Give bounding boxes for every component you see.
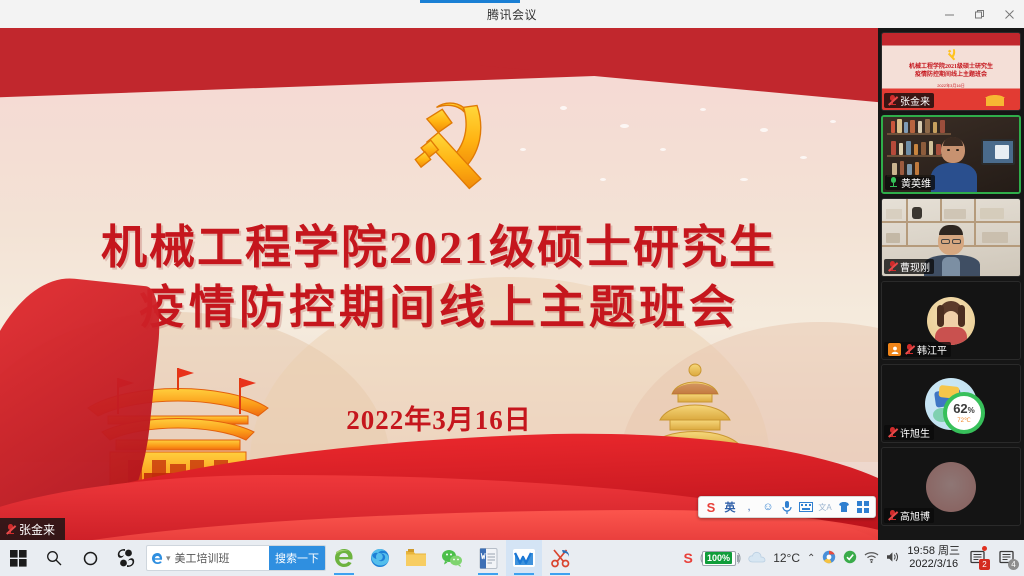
emoji-icon[interactable]: ☺	[761, 500, 775, 514]
apps-icon[interactable]	[856, 500, 870, 514]
participant-name: 曹现刚	[900, 259, 930, 274]
cloud-fleck	[740, 178, 748, 181]
meeting-stage: 机械工程学院2021级硕士研究生 疫情防控期间线上主题班会 2022年3月16日	[0, 28, 1024, 540]
clock-time: 19:58 周三	[907, 545, 960, 558]
microsoft-edge-icon[interactable]	[362, 540, 398, 576]
close-button[interactable]	[994, 0, 1024, 28]
cloud-fleck	[800, 156, 807, 159]
wechat-icon[interactable]	[434, 540, 470, 576]
gauge-temperature-value: 72℃	[957, 417, 970, 424]
battery-percent-label: 100%	[705, 552, 732, 564]
file-explorer-icon[interactable]	[398, 540, 434, 576]
search-submit-button[interactable]: 搜索一下	[269, 545, 325, 571]
cloud-fleck	[620, 124, 629, 128]
cloud-fleck	[600, 178, 606, 181]
participant-tile-gaoxubo[interactable]: 高旭博	[881, 447, 1021, 526]
sogou-ime-tray-icon[interactable]: S	[684, 550, 693, 566]
host-badge-icon	[888, 343, 901, 356]
participant-name-badge: 张金来	[884, 93, 934, 108]
action-center-count: 4	[1008, 559, 1019, 570]
shared-screen-slide[interactable]: 机械工程学院2021级硕士研究生 疫情防控期间线上主题班会 2022年3月16日	[0, 28, 878, 540]
gauge-percent-value: 62%	[953, 402, 975, 417]
mic-muted-icon	[888, 510, 897, 521]
mic-muted-icon	[6, 524, 15, 535]
notification-center-icon[interactable]: 2	[967, 547, 989, 569]
participant-name: 许旭生	[900, 425, 930, 440]
window-controls	[934, 0, 1024, 28]
tile-slide-title: 机械工程学院2021级硕士研究生 疫情防控期间线上主题班会	[886, 63, 1016, 79]
taskbar-clock[interactable]: 19:58 周三 2022/3/16	[907, 545, 960, 571]
internet-explorer-icon[interactable]	[326, 540, 362, 576]
notification-count: 2	[979, 559, 990, 570]
english-mode-icon[interactable]: 英	[723, 500, 737, 514]
battery-indicator[interactable]: ( 100% )	[700, 551, 741, 566]
show-hidden-icons-icon[interactable]: ⌃	[807, 553, 815, 564]
sogou-browser-icon[interactable]	[108, 540, 144, 576]
participant-tile-xuxusheng[interactable]: 62% 72℃ 许旭生	[881, 364, 1021, 443]
skin-icon[interactable]	[837, 500, 851, 514]
titlebar-accent-line	[420, 0, 520, 3]
window-title: 腾讯会议	[0, 6, 1024, 23]
self-name-badge: 张金来	[0, 518, 65, 540]
wps-writer-icon[interactable]	[470, 540, 506, 576]
participant-name-badge: 黄英维	[885, 175, 935, 190]
mic-muted-icon	[888, 427, 897, 438]
sogou-logo-icon[interactable]: S	[704, 500, 718, 514]
mic-muted-icon	[888, 95, 897, 106]
participant-name: 黄英维	[901, 175, 931, 190]
minimize-button[interactable]	[934, 0, 964, 28]
search-input-value[interactable]: 美工培训班	[171, 550, 269, 566]
mic-muted-icon	[905, 344, 914, 355]
mic-on-icon	[889, 177, 898, 188]
cloud-fleck	[660, 148, 666, 151]
search-input[interactable]: ▾ 美工培训班 搜索一下	[146, 545, 326, 571]
punctuation-icon[interactable]: ,	[742, 500, 756, 514]
wifi-icon[interactable]	[864, 551, 879, 566]
slide-title-line-1: 机械工程学院2021级硕士研究生	[0, 218, 878, 278]
participant-tile-caoxiangang[interactable]: 曹现刚	[881, 198, 1021, 277]
participant-name-badge: 韩江平	[884, 342, 951, 357]
participant-tile-hanjiangping[interactable]: 韩江平	[881, 281, 1021, 360]
browser-tray-icon[interactable]	[822, 550, 836, 567]
tencent-meeting-icon[interactable]	[506, 540, 542, 576]
search-icon[interactable]	[36, 540, 72, 576]
participant-filmstrip[interactable]: 机械工程学院2021级硕士研究生 疫情防控期间线上主题班会 2022年3月16日…	[878, 28, 1024, 540]
participant-name-badge: 许旭生	[884, 425, 934, 440]
participant-name-badge: 高旭博	[884, 508, 934, 523]
ie-edge-icon	[147, 552, 166, 565]
speaker-icon[interactable]	[886, 551, 900, 566]
avatar	[926, 462, 976, 512]
cpc-emblem-icon	[392, 90, 508, 200]
system-tray[interactable]: S ( 100% ) 12°C ⌃ 19:58 周三 2022/3/16	[684, 545, 1024, 571]
cortana-circle-icon[interactable]	[72, 540, 108, 576]
participant-name: 韩江平	[917, 342, 947, 357]
battery-percent-gauge: 62% 72℃	[943, 392, 985, 434]
cloud-fleck	[700, 108, 706, 111]
avatar: 62% 72℃	[925, 378, 977, 430]
window-title-bar[interactable]: 腾讯会议	[0, 0, 1024, 28]
cloud-fleck	[520, 148, 526, 151]
clock-date: 2022/3/16	[907, 558, 960, 571]
weather-temperature-label[interactable]: 12°C	[773, 551, 800, 565]
participant-name: 张金来	[900, 93, 930, 108]
security-tray-icon[interactable]	[843, 550, 857, 567]
translate-icon[interactable]: 文A	[818, 500, 832, 514]
restore-button[interactable]	[964, 0, 994, 28]
avatar	[927, 297, 975, 345]
slide-red-band-right	[480, 28, 878, 106]
tile-slide-date: 2022年3月16日	[882, 83, 1020, 89]
cpc-emblem-icon	[943, 47, 959, 62]
participant-name: 高旭博	[900, 508, 930, 523]
windows-start-icon[interactable]	[0, 540, 36, 576]
soft-keyboard-icon[interactable]	[799, 500, 813, 514]
unread-dot	[982, 546, 987, 551]
cloud-icon[interactable]	[748, 551, 766, 566]
cloud-fleck	[830, 120, 836, 123]
sogou-ime-toolbar[interactable]: S 英 , ☺ 文A	[698, 496, 876, 518]
cloud-fleck	[560, 106, 567, 110]
action-center-icon[interactable]: 4	[996, 547, 1018, 569]
self-name-label: 张金来	[19, 521, 55, 538]
participant-name-badge: 曹现刚	[884, 259, 934, 274]
cloud-fleck	[760, 128, 768, 132]
voice-input-icon[interactable]	[780, 500, 794, 514]
mic-muted-icon	[888, 261, 897, 272]
participant-tile-zhangjinlai[interactable]: 机械工程学院2021级硕士研究生 疫情防控期间线上主题班会 2022年3月16日…	[881, 32, 1021, 111]
snipaste-icon[interactable]	[542, 540, 578, 576]
participant-tile-huangyingwei[interactable]: 黄英维	[881, 115, 1021, 194]
windows-taskbar[interactable]: ▾ 美工培训班 搜索一下 S ( 100% ) 12°C ⌃	[0, 540, 1024, 576]
